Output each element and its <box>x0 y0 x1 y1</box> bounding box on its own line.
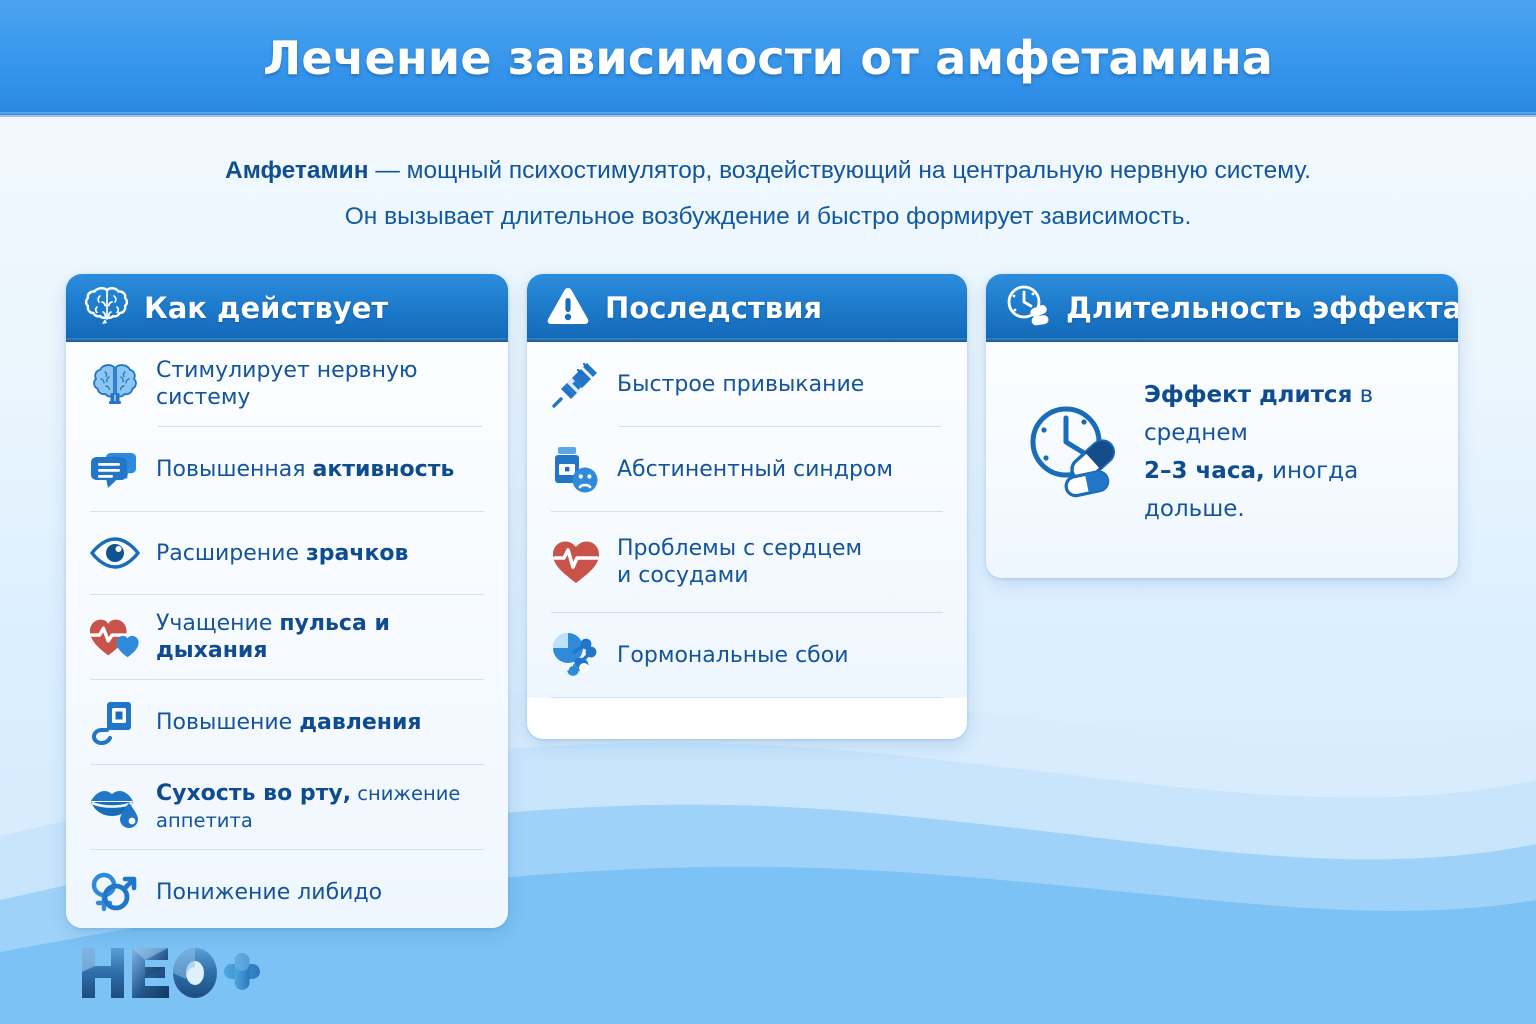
intro-line-1: Амфетамин — мощный психостимулятор, возд… <box>0 148 1536 194</box>
list-item[interactable]: Повышенная активность <box>66 427 508 511</box>
card-how-it-works-header: Как действует <box>66 274 508 342</box>
warning-triangle-icon <box>545 285 591 332</box>
syringe-icon <box>549 357 603 411</box>
effect-text-bold-1: Эффект длится <box>1144 382 1352 408</box>
card-consequences-header: Последствия <box>527 274 967 342</box>
brain-outline-icon <box>84 286 130 331</box>
list-item-label: Абстинентный синдром <box>617 456 893 483</box>
page-header: Лечение зависимости от амфетамина <box>0 0 1536 115</box>
card-how-it-works-title: Как действует <box>144 291 388 325</box>
intro-line-1-rest: — мощный психостимулятор, воздействующий… <box>369 157 1311 184</box>
card-consequences-title: Последствия <box>605 291 822 325</box>
effect-duration-text: Эффект длится в среднем 2–3 часа, иногда… <box>1144 376 1432 528</box>
list-item-label: Сухость во рту, снижение аппетита <box>156 780 486 834</box>
intro-line-2: Он вызывает длительное возбуждение и быс… <box>0 194 1536 240</box>
brain-icon <box>88 357 142 411</box>
list-item[interactable]: Абстинентный синдром <box>527 427 967 511</box>
list-item[interactable]: Гормональные сбои <box>527 613 967 697</box>
clock-capsules-icon <box>1022 400 1126 504</box>
hormone-molecule-icon <box>549 628 603 682</box>
line-a: Проблемы с сердцем и сосудами <box>617 536 862 588</box>
intro-block: Амфетамин — мощный психостимулятор, возд… <box>0 148 1536 240</box>
list-item-label: Учащение пульса и дыхания <box>156 610 486 664</box>
list-item[interactable]: Понижение либидо <box>66 850 508 928</box>
effect-text-bold-2: 2–3 часа, <box>1144 458 1265 484</box>
list-item[interactable]: Проблемы с сердцем и сосудами <box>527 512 967 612</box>
lips-drop-icon <box>88 780 142 834</box>
hearts-pulse-icon <box>88 610 142 664</box>
list-item[interactable]: Повышение давления <box>66 680 508 764</box>
card-how-it-works[interactable]: Как действует Стимулирует нервную систем… <box>66 274 508 928</box>
clock-pills-icon <box>1004 284 1052 333</box>
list-item-label: Понижение либидо <box>156 879 382 906</box>
list-item[interactable]: Быстрое привыкание <box>527 342 967 426</box>
heart-pulse-icon <box>549 535 603 589</box>
list-item-label: Проблемы с сердцем и сосудами <box>617 535 862 589</box>
list-item-label: Быстрое привыкание <box>617 371 864 398</box>
card-consequences-body: Быстрое привыкание <box>527 342 967 698</box>
infographic-canvas: Лечение зависимости от амфетамина Амфета… <box>0 0 1536 1024</box>
eye-icon <box>88 526 142 580</box>
row-divider <box>551 697 943 698</box>
card-consequences[interactable]: Последствия Быстрое привыкание <box>527 274 967 739</box>
card-effect-duration-header: Длительность эффекта <box>986 274 1458 342</box>
list-item[interactable]: Расширение зрачков <box>66 512 508 594</box>
card-effect-duration-body: Эффект длится в среднем 2–3 часа, иногда… <box>986 342 1458 578</box>
intro-term: Амфетамин <box>225 157 369 184</box>
list-item[interactable]: Учащение пульса и дыхания <box>66 595 508 679</box>
list-item-label: Расширение зрачков <box>156 540 408 567</box>
list-item-label: Стимулирует нервную систему <box>156 357 486 411</box>
card-how-it-works-body: Стимулирует нервную систему Повышенная а… <box>66 342 508 928</box>
blood-pressure-monitor-icon <box>88 695 142 749</box>
gender-symbols-icon <box>88 865 142 919</box>
card-effect-duration[interactable]: Длительность эффекта <box>986 274 1458 578</box>
neo-plus-logo[interactable] <box>78 942 264 1004</box>
effect-duration-content: Эффект длится в среднем 2–3 часа, иногда… <box>986 342 1458 558</box>
list-item-label: Повышенная активность <box>156 456 454 483</box>
list-item-label: Гормональные сбои <box>617 642 849 669</box>
page-title: Лечение зависимости от амфетамина <box>263 31 1273 85</box>
speech-bubbles-icon <box>88 442 142 496</box>
list-item[interactable]: Стимулирует нервную систему <box>66 342 508 426</box>
list-item[interactable]: Сухость во рту, снижение аппетита <box>66 765 508 849</box>
list-item-label: Повышение давления <box>156 709 422 736</box>
card-effect-duration-title: Длительность эффекта <box>1066 291 1458 325</box>
pill-bottle-sad-face-icon <box>549 442 603 496</box>
